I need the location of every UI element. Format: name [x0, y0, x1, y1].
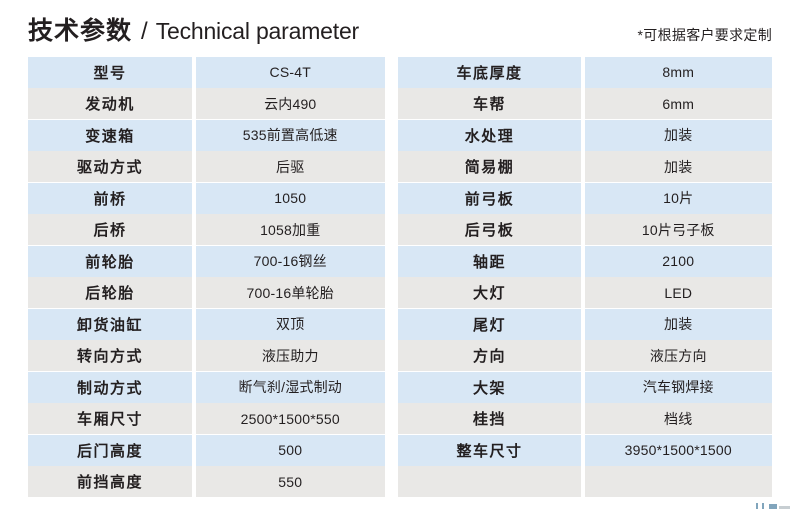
- spec-label: 大灯: [398, 277, 581, 308]
- table-row: 整车尺寸3950*1500*1500: [398, 435, 772, 466]
- spec-value: 加装: [585, 309, 773, 340]
- table-row: 桂挡档线: [398, 403, 772, 434]
- spec-label: 方向: [398, 340, 581, 371]
- spec-label: 驱动方式: [28, 151, 192, 182]
- table-row: 水处理加装: [398, 120, 772, 151]
- table-row: 前桥1050: [28, 183, 385, 214]
- table-row: 轴距2100: [398, 246, 772, 277]
- spec-label: 大架: [398, 372, 581, 403]
- table-row: 卸货油缸双顶: [28, 309, 385, 340]
- spec-label: 前弓板: [398, 183, 581, 214]
- spec-value: 后驱: [196, 151, 386, 182]
- spec-value: 1058加重: [196, 214, 386, 245]
- spec-label: 前桥: [28, 183, 192, 214]
- spec-value: 双顶: [196, 309, 386, 340]
- spec-label: 尾灯: [398, 309, 581, 340]
- table-row: 驱动方式后驱: [28, 151, 385, 182]
- spec-label: 后弓板: [398, 214, 581, 245]
- spec-table-left: 型号CS-4T发动机云内490变速箱535前置高低速驱动方式后驱前桥1050后桥…: [28, 57, 385, 498]
- spec-label: [398, 466, 581, 497]
- spec-value: CS-4T: [196, 57, 386, 88]
- spec-value: 加装: [585, 120, 773, 151]
- table-row: [398, 466, 772, 497]
- table-row: 简易棚加装: [398, 151, 772, 182]
- spec-value: 550: [196, 466, 386, 497]
- spec-label: 桂挡: [398, 403, 581, 434]
- spec-label: 后轮胎: [28, 277, 192, 308]
- spec-value: 700-16单轮胎: [196, 277, 386, 308]
- table-row: 变速箱535前置高低速: [28, 120, 385, 151]
- table-row: 车底厚度8mm: [398, 57, 772, 88]
- spec-value: 3950*1500*1500: [585, 435, 773, 466]
- table-row: 大灯LED: [398, 277, 772, 308]
- spec-label: 车底厚度: [398, 57, 581, 88]
- spec-label: 制动方式: [28, 372, 192, 403]
- spec-label: 变速箱: [28, 120, 192, 151]
- spec-value: 2500*1500*550: [196, 403, 386, 434]
- table-row: 转向方式液压助力: [28, 340, 385, 371]
- spec-table-right: 车底厚度8mm车帮6mm水处理加装简易棚加装前弓板10片后弓板10片弓子板轴距2…: [398, 57, 772, 498]
- spec-value: 535前置高低速: [196, 120, 386, 151]
- spec-label: 型号: [28, 57, 192, 88]
- spec-label: 前轮胎: [28, 246, 192, 277]
- table-row: 后弓板10片弓子板: [398, 214, 772, 245]
- title-separator: /: [141, 18, 148, 46]
- page-title-cn: 技术参数: [28, 11, 132, 47]
- spec-label: 后桥: [28, 214, 192, 245]
- spec-value: 8mm: [585, 57, 773, 88]
- spec-value: 液压助力: [196, 340, 386, 371]
- spec-value: 1050: [196, 183, 386, 214]
- customization-note: *可根据客户要求定制: [638, 25, 772, 45]
- spec-value: 档线: [585, 403, 773, 434]
- spec-value: 6mm: [585, 88, 773, 119]
- spec-value: LED: [585, 277, 773, 308]
- table-row: 型号CS-4T: [28, 57, 385, 88]
- spec-label: 后门高度: [28, 435, 192, 466]
- table-row: 车帮6mm: [398, 88, 772, 119]
- table-row: 前弓板10片: [398, 183, 772, 214]
- page-title: 技术参数 / Technical parameter: [28, 11, 359, 47]
- spec-value: 云内490: [196, 88, 386, 119]
- spec-label: 水处理: [398, 120, 581, 151]
- spec-value: 加装: [585, 151, 773, 182]
- watermark-icon: [756, 502, 790, 509]
- table-row: 后门高度500: [28, 435, 385, 466]
- table-row: 后桥1058加重: [28, 214, 385, 245]
- spec-value: 10片弓子板: [585, 214, 773, 245]
- spec-label: 发动机: [28, 88, 192, 119]
- spec-value: 10片: [585, 183, 773, 214]
- spec-label: 简易棚: [398, 151, 581, 182]
- page-title-en: Technical parameter: [156, 18, 359, 45]
- spec-value: 断气刹/湿式制动: [196, 372, 386, 403]
- table-row: 发动机云内490: [28, 88, 385, 119]
- page-header: 技术参数 / Technical parameter *可根据客户要求定制: [0, 0, 800, 55]
- spec-label: 卸货油缸: [28, 309, 192, 340]
- table-row: 方向液压方向: [398, 340, 772, 371]
- table-row: 前轮胎700-16钢丝: [28, 246, 385, 277]
- table-row: 车厢尺寸2500*1500*550: [28, 403, 385, 434]
- spec-value: 2100: [585, 246, 773, 277]
- spec-label: 轴距: [398, 246, 581, 277]
- spec-label: 车厢尺寸: [28, 403, 192, 434]
- table-row: 大架汽车钢焊接: [398, 372, 772, 403]
- spec-label: 整车尺寸: [398, 435, 581, 466]
- spec-label: 车帮: [398, 88, 581, 119]
- table-row: 前挡高度550: [28, 466, 385, 497]
- spec-value: 500: [196, 435, 386, 466]
- table-row: 尾灯加装: [398, 309, 772, 340]
- spec-value: 汽车钢焊接: [585, 372, 773, 403]
- table-row: 后轮胎700-16单轮胎: [28, 277, 385, 308]
- spec-value: 液压方向: [585, 340, 773, 371]
- table-row: 制动方式断气刹/湿式制动: [28, 372, 385, 403]
- spec-value: [585, 466, 773, 497]
- spec-label: 转向方式: [28, 340, 192, 371]
- spec-value: 700-16钢丝: [196, 246, 386, 277]
- spec-label: 前挡高度: [28, 466, 192, 497]
